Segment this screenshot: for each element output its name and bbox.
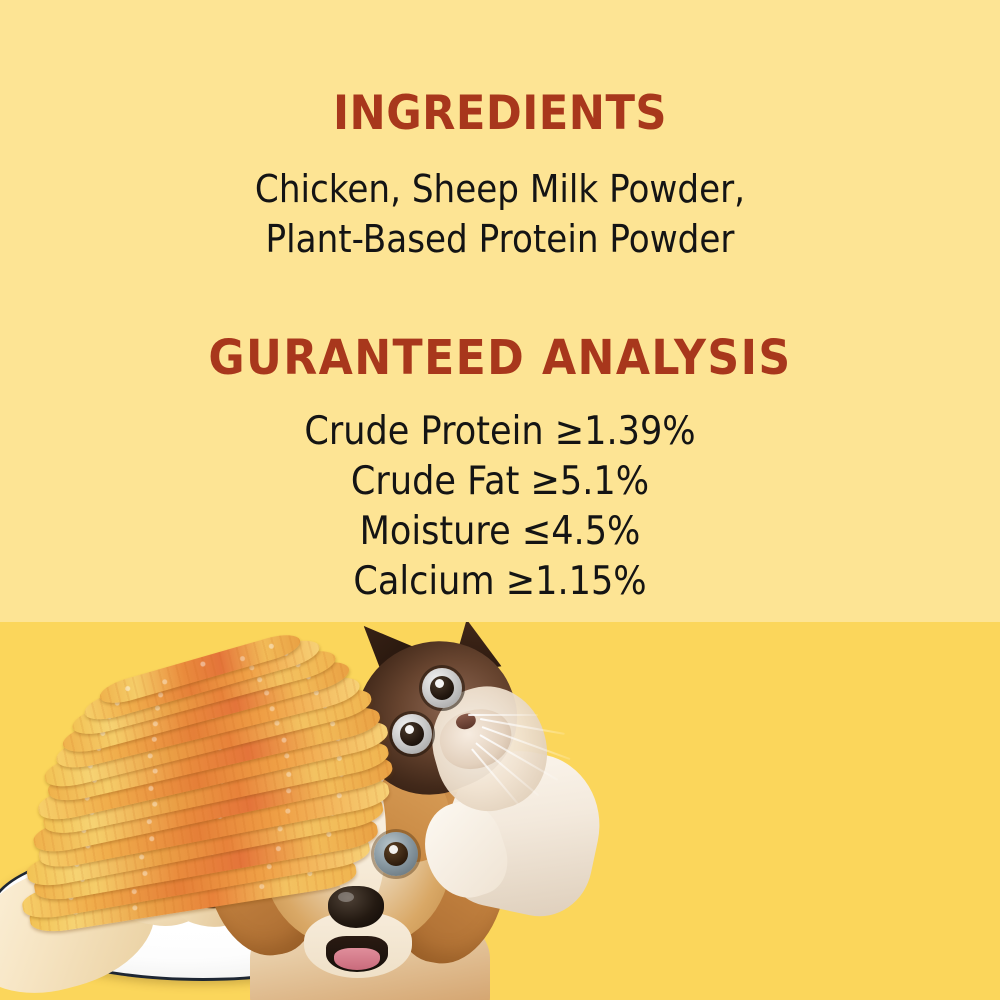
cat-whisker (468, 714, 538, 716)
ingredients-line-1: Chicken, Sheep Milk Powder, (50, 167, 950, 211)
ingredients-line-2: Plant-Based Protein Powder (50, 217, 950, 261)
cat-right-eye-glint (405, 725, 414, 734)
nutrition-text-panel: INGREDIENTS Chicken, Sheep Milk Powder, … (0, 0, 1000, 622)
analysis-row-moisture: Moisture ≤4.5% (50, 510, 950, 554)
product-photo-band (0, 622, 1000, 1000)
analysis-row-crude-protein: Crude Protein ≥1.39% (50, 410, 950, 454)
guaranteed-analysis-heading: GURANTEED ANALYSIS (40, 332, 960, 384)
ingredients-heading: INGREDIENTS (40, 89, 960, 139)
cat-left-eye-glint (435, 679, 444, 688)
analysis-row-calcium: Calcium ≥1.15% (50, 560, 950, 604)
product-detail-image: INGREDIENTS Chicken, Sheep Milk Powder, … (0, 0, 1000, 1000)
analysis-row-crude-fat: Crude Fat ≥5.1% (50, 460, 950, 504)
spaniel-tongue (334, 948, 380, 970)
